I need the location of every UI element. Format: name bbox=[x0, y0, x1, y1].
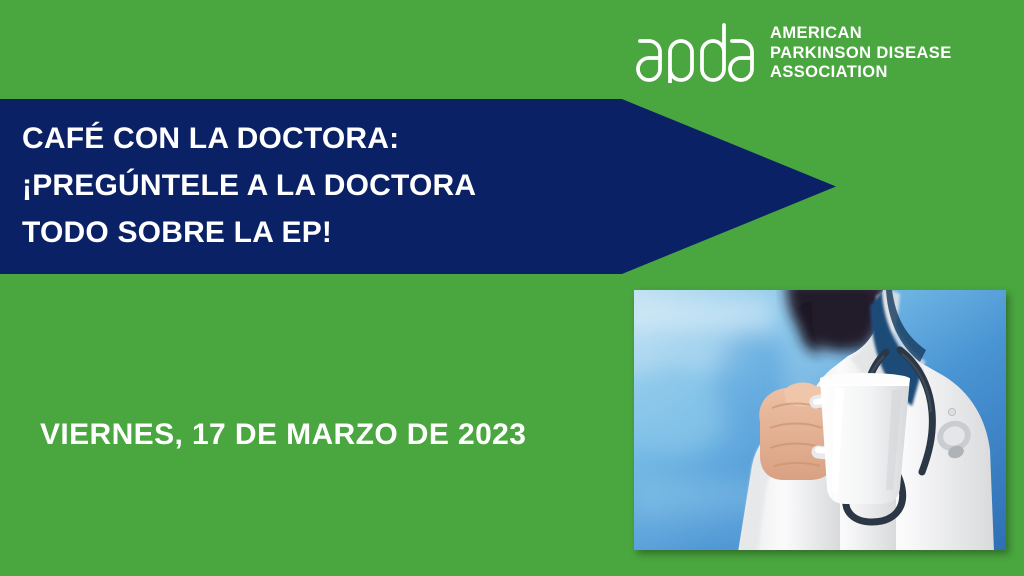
logo-line-3: ASSOCIATION bbox=[770, 63, 952, 81]
headline-line-3: TODO SOBRE LA EP! bbox=[22, 209, 622, 256]
headline-text: CAFÉ CON LA DOCTORA: ¡PREGÚNTELE A LA DO… bbox=[22, 115, 622, 256]
apda-wordmark-icon bbox=[636, 21, 756, 83]
apda-logo-text: AMERICAN PARKINSON DISEASE ASSOCIATION bbox=[770, 22, 952, 81]
doctor-photo bbox=[634, 290, 1006, 550]
event-date: VIERNES, 17 DE MARZO DE 2023 bbox=[40, 418, 526, 452]
headline-line-1: CAFÉ CON LA DOCTORA: bbox=[22, 115, 622, 162]
logo-line-1: AMERICAN bbox=[770, 24, 952, 42]
headline-banner: CAFÉ CON LA DOCTORA: ¡PREGÚNTELE A LA DO… bbox=[0, 99, 836, 274]
headline-line-2: ¡PREGÚNTELE A LA DOCTORA bbox=[22, 162, 622, 209]
promo-graphic: AMERICAN PARKINSON DISEASE ASSOCIATION C… bbox=[0, 0, 1024, 576]
apda-logo: AMERICAN PARKINSON DISEASE ASSOCIATION bbox=[636, 14, 946, 90]
logo-line-2: PARKINSON DISEASE bbox=[770, 44, 952, 62]
doctor-photo-image bbox=[634, 290, 1006, 550]
